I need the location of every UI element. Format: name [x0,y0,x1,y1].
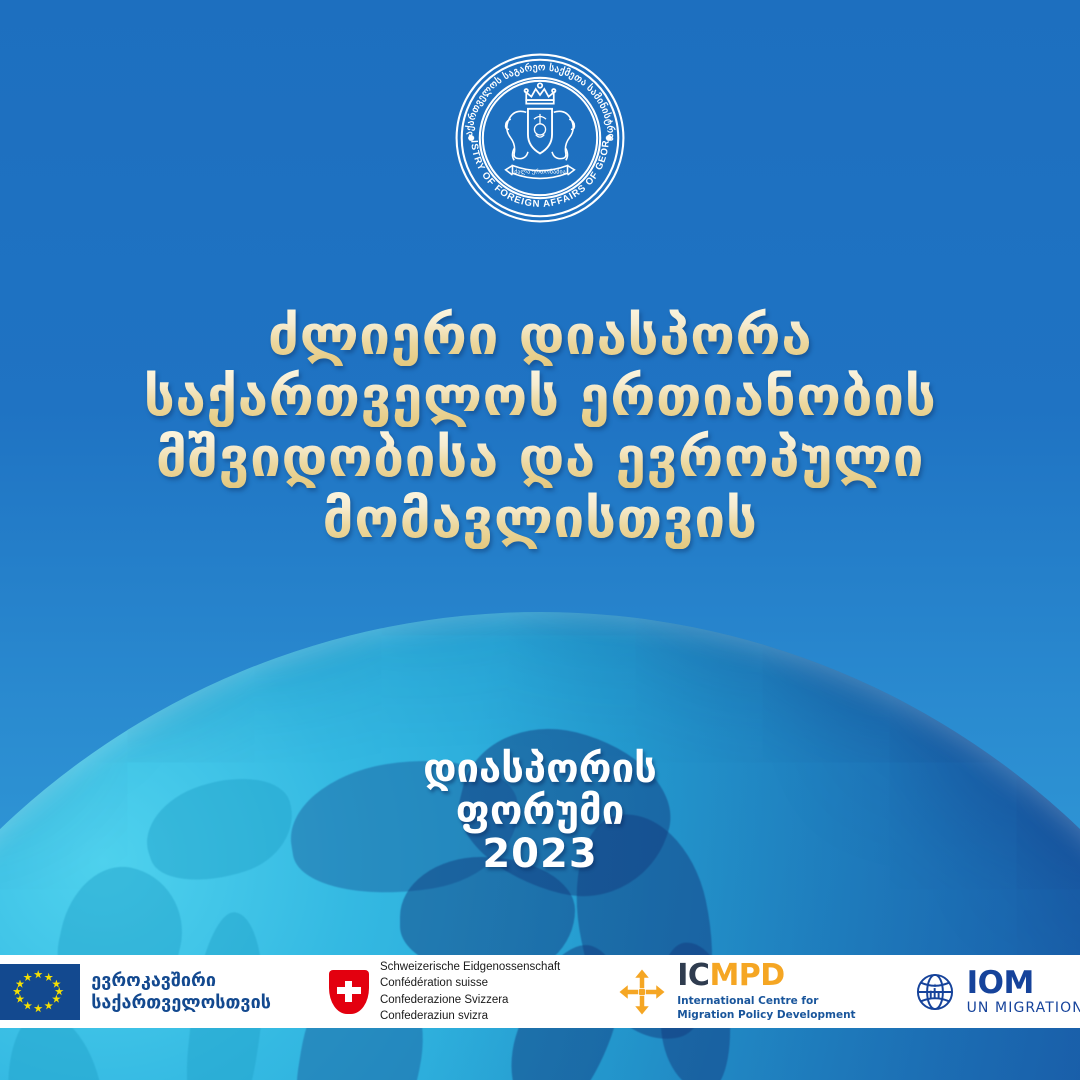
headline-line-2: საქართველოს ერთიანობის [0,366,1080,427]
headline-line-1: ძლიერი დიასპორა [0,305,1080,366]
logo-icmpd: ICMPD International Centre for Migration… [618,961,855,1022]
iom-subtitle: UN MIGRATION [967,1001,1080,1015]
subtitle-year: 2023 [0,833,1080,875]
icmpd-word-part-1: IC [677,958,709,993]
iom-logo-text: IOM UN MIGRATION [967,968,1080,1015]
logo-iom-un-migration: IOM UN MIGRATION [914,968,1080,1015]
poster-canvas: MINISTRY OF FOREIGN AFFAIRS OF GEORGIA ს… [0,0,1080,1080]
headline-line-4: მომავლისთვის [0,488,1080,549]
swiss-logo-line-4: Confederaziun svizra [380,1008,560,1024]
icmpd-word-part-2: MPD [709,958,784,993]
subtitle-line-1: დიასპორის [0,748,1080,790]
eu-logo-line-2: საქართველოსთვის [91,992,271,1014]
eu-flag-icon [0,964,80,1020]
logo-swiss-confederation: Schweizerische Eidgenossenschaft Confédé… [329,959,560,1024]
icmpd-logo-text: ICMPD International Centre for Migration… [677,961,855,1022]
eu-logo-text: ევროკავშირი საქართველოსთვის [91,970,271,1014]
swiss-logo-line-3: Confederazione Svizzera [380,992,560,1008]
iom-globe-icon [914,971,956,1013]
subtitle-line-2: ფორუმი [0,790,1080,832]
four-way-arrow-icon [618,968,666,1016]
page-title: ძლიერი დიასპორა საქართველოს ერთიანობის მ… [0,305,1080,549]
ministry-emblem: MINISTRY OF FOREIGN AFFAIRS OF GEORGIA ს… [454,52,626,224]
swiss-logo-line-1: Schweizerische Eidgenossenschaft [380,959,560,975]
event-subtitle: დიასპორის ფორუმი 2023 [0,748,1080,875]
icmpd-wordmark: ICMPD [677,961,855,991]
iom-wordmark: IOM [967,968,1080,999]
partner-logo-bar: ევროკავშირი საქართველოსთვის Schweizerisc… [0,955,1080,1028]
headline-line-3: მშვიდობისა და ევროპული [0,427,1080,488]
logo-eu-for-georgia: ევროკავშირი საქართველოსთვის [0,964,271,1020]
eu-logo-line-1: ევროკავშირი [91,970,271,992]
icmpd-subtitle-line-1: International Centre for [677,994,855,1008]
icmpd-subtitle: International Centre for Migration Polic… [677,994,855,1022]
swiss-logo-line-2: Confédération suisse [380,975,560,991]
swiss-shield-icon [329,970,369,1014]
icmpd-subtitle-line-2: Migration Policy Development [677,1008,855,1022]
swiss-logo-text: Schweizerische Eidgenossenschaft Confédé… [380,959,560,1024]
svg-text:ძალა ერთობაშია: ძალა ერთობაშია [514,168,566,176]
